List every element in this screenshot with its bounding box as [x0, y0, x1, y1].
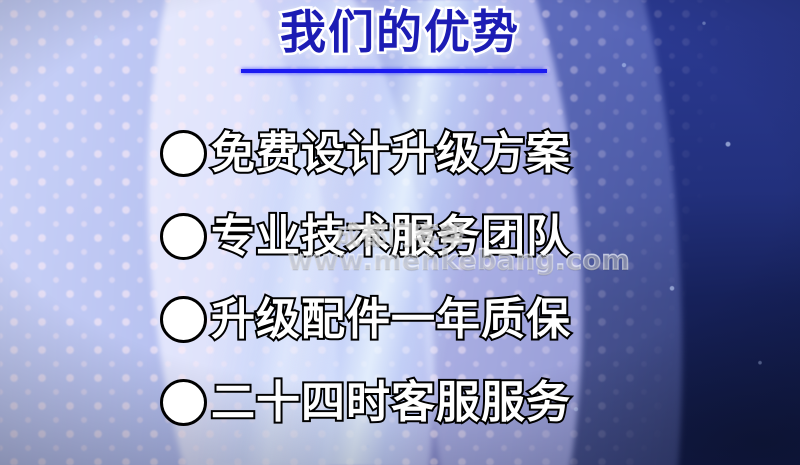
list-item: 专业技术服务团队	[160, 195, 630, 278]
list-item: 升级配件一年质保	[160, 278, 630, 361]
circle-bullet-icon	[160, 296, 207, 343]
advantages-banner: 我们的优势 免费设计升级方案 专业技术服务团队 升级配件一年质保 二十四时客服服…	[0, 0, 800, 465]
list-item-label: 升级配件一年质保	[211, 298, 571, 342]
list-item: 免费设计升级方案	[160, 112, 630, 195]
banner-content: 我们的优势 免费设计升级方案 专业技术服务团队 升级配件一年质保 二十四时客服服…	[0, 0, 800, 465]
list-item-label: 免费设计升级方案	[211, 132, 571, 176]
title-underline-rule	[241, 69, 547, 73]
circle-bullet-icon	[160, 213, 207, 260]
list-item: 二十四时客服服务	[160, 361, 630, 444]
page-title: 我们的优势	[280, 6, 520, 59]
list-item-label: 专业技术服务团队	[211, 215, 571, 259]
title-container: 我们的优势	[0, 6, 800, 59]
circle-bullet-icon	[160, 130, 207, 177]
list-item-label: 二十四时客服服务	[211, 381, 571, 425]
advantages-list: 免费设计升级方案 专业技术服务团队 升级配件一年质保 二十四时客服服务	[160, 112, 630, 444]
circle-bullet-icon	[160, 379, 207, 426]
